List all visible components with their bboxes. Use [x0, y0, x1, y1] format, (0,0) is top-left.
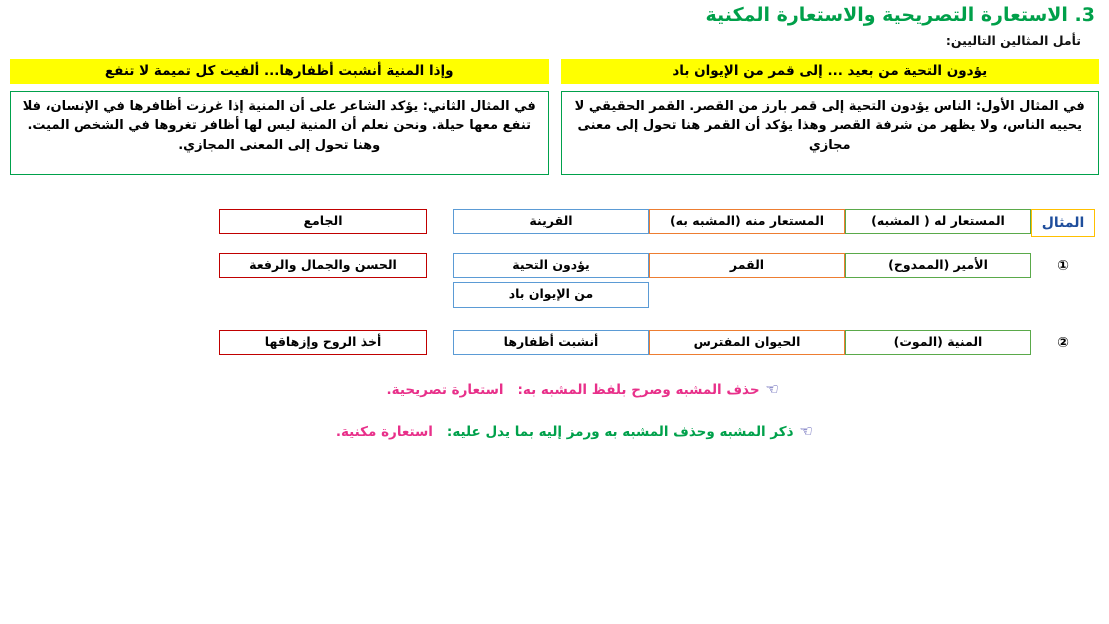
table-header-col1: المستعار له ( المشبه) — [845, 209, 1031, 234]
example-1-explanation: في المثال الأول: الناس يؤدون التحية إلى … — [561, 91, 1100, 175]
conclusion-makniyya-rule: ذكر المشبه وحذف المشبه به ورمز إليه بما … — [447, 424, 794, 440]
table-header-col3: القرينة — [453, 209, 649, 234]
examples-section: يؤدون التحية من بعيد ... إلى قمر من الإي… — [0, 59, 1109, 175]
subtitle-row: تأمل المثالين التاليين: — [0, 28, 1109, 49]
metaphor-table: المثال المستعار له ( المشبه) المستعار من… — [0, 209, 1109, 356]
table-row-1-col4: الحسن والجمال والرفعة — [219, 253, 427, 278]
conclusion-tasrihiyya-rule: حذف المشبه وصرح بلفظ المشبه به: — [518, 382, 760, 398]
table-row-2-col3-line-1: أنشبت أظفارها — [453, 330, 649, 355]
table-row-1-col1: الأمير (الممدوح) — [845, 253, 1031, 278]
example-2-explanation: في المثال الثاني: يؤكد الشاعر على أن الم… — [10, 91, 549, 175]
title-row: 3. الاستعارة التصريحية والاستعارة المكني… — [0, 0, 1109, 28]
table-row-1-col3-line-1: يؤدون التحية — [453, 253, 649, 278]
table-row: ① الأمير (الممدوح) القمر يؤدون التحية من… — [10, 253, 1095, 308]
table-header-index: المثال — [1031, 209, 1095, 237]
table-row-2-col1: المنية (الموت) — [845, 330, 1031, 355]
conclusion-tasrihiyya-result: استعارة تصريحية. — [387, 382, 504, 398]
table-row-2-col4: أخذ الروح وإزهاقها — [219, 330, 427, 355]
pointing-hand-icon: ☜ — [766, 382, 779, 397]
example-2-column: وإذا المنية أنشبت أظفارها... ألفيت كل تم… — [10, 59, 549, 175]
table-header-col4: الجامع — [219, 209, 427, 234]
table-row-1-index: ① — [1031, 253, 1095, 279]
table-row-2-col3: أنشبت أظفارها — [453, 330, 649, 355]
table-header-row: المثال المستعار له ( المشبه) المستعار من… — [10, 209, 1095, 237]
table-row: ② المنية (الموت) الحيوان المفترس أنشبت أ… — [10, 330, 1095, 356]
table-header-col2: المستعار منه (المشبه به) — [649, 209, 845, 234]
example-1-highlight: يؤدون التحية من بعيد ... إلى قمر من الإي… — [561, 59, 1100, 84]
table-row-2-index: ② — [1031, 330, 1095, 356]
example-2-highlight: وإذا المنية أنشبت أظفارها... ألفيت كل تم… — [10, 59, 549, 84]
table-row-1-col3-line-2: من الإيوان باد — [453, 282, 649, 307]
pointing-hand-icon: ☜ — [800, 424, 813, 439]
example-1-column: يؤدون التحية من بعيد ... إلى قمر من الإي… — [561, 59, 1100, 175]
conclusions-section: ☜ حذف المشبه وصرح بلفظ المشبه به: استعار… — [0, 382, 1109, 440]
table-row-1-col2: القمر — [649, 253, 845, 278]
page-title: 3. الاستعارة التصريحية والاستعارة المكني… — [706, 4, 1095, 28]
conclusion-makniyya-result: استعارة مكنية. — [336, 424, 433, 440]
page-subtitle: تأمل المثالين التاليين: — [946, 33, 1081, 48]
table-row-2-col2: الحيوان المفترس — [649, 330, 845, 355]
conclusion-tasrihiyya: ☜ حذف المشبه وصرح بلفظ المشبه به: استعار… — [0, 382, 1109, 398]
document-page: 3. الاستعارة التصريحية والاستعارة المكني… — [0, 0, 1109, 624]
conclusion-makniyya: ☜ ذكر المشبه وحذف المشبه به ورمز إليه بم… — [0, 424, 1109, 440]
table-row-1-col3: يؤدون التحية من الإيوان باد — [453, 253, 649, 308]
